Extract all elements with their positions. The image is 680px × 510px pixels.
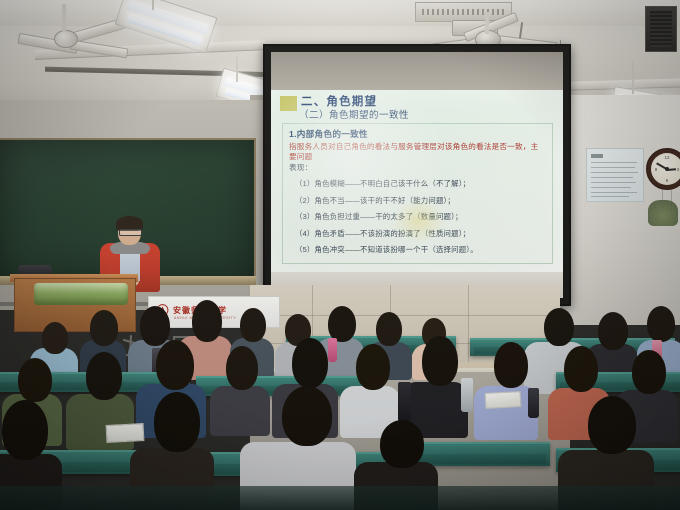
clock-face: 123 69 (651, 153, 680, 185)
paper-sheet (485, 391, 522, 409)
slide-list-item: （3）角色负担过重——干的太多了（数量问题）； (289, 211, 546, 222)
svg-text:3: 3 (677, 167, 680, 172)
slide-subtitle: （二）角色期望的一致性 (299, 107, 409, 121)
paper-sheet (106, 423, 145, 443)
slide-list-item: （1）角色模糊——不明白自己该干什么（不了解）； (289, 178, 546, 189)
lamp-stem (632, 62, 634, 94)
classroom-photo: 123 69 二、角色期望 （二）角色期望的一致性 1.内部角色的一致性 指服务… (0, 0, 680, 510)
slide-body: 1.内部角色的一致性 指服务人员对自己角色的看法与服务管理层对该角色的看法是否一… (282, 123, 553, 264)
foreground-desk-edge (0, 486, 680, 510)
water-bottle (528, 388, 539, 418)
slide-list-item: （4）角色矛盾——不该扮演的扮演了（性质问题）； (289, 228, 546, 239)
wall-clock: 123 69 (646, 148, 680, 190)
water-bottle (461, 378, 473, 412)
potted-plant (648, 200, 678, 226)
desk-row (410, 442, 550, 466)
glasses-icon (119, 229, 142, 236)
ceiling-speaker (645, 6, 677, 52)
presentation-slide: 二、角色期望 （二）角色期望的一致性 1.内部角色的一致性 指服务人员对自己角色… (271, 90, 563, 272)
water-bottle (328, 338, 337, 362)
screen-surface: 二、角色期望 （二）角色期望的一致性 1.内部角色的一致性 指服务人员对自己角色… (271, 90, 563, 298)
slide-lead-continuation: 表现： (289, 163, 546, 173)
podium-flower-arrangement (34, 283, 128, 305)
water-bottle (398, 382, 411, 422)
slide-list-item: （5）角色冲突——不知道该扮哪一个干（选择问题）。 (289, 244, 546, 255)
projection-screen: 二、角色期望 （二）角色期望的一致性 1.内部角色的一致性 指服务人员对自己角色… (263, 44, 571, 306)
slide-list-item: （2）角色不当——该干的干不好（能力问题）； (289, 195, 546, 206)
slide-body-heading: 1.内部角色的一致性 (289, 128, 546, 140)
slide-accent-block (280, 96, 297, 111)
svg-text:12: 12 (664, 155, 670, 160)
screen-header-band (271, 52, 563, 90)
svg-text:6: 6 (666, 178, 669, 183)
lamp-stem (236, 56, 238, 82)
slide-lead-red: 指服务人员对自己角色的看法与服务管理层对该角色的看法是否一致，主要问题 (289, 142, 546, 163)
svg-text:9: 9 (655, 167, 658, 172)
lamp-stem (152, 0, 154, 10)
notice-board (586, 148, 644, 202)
